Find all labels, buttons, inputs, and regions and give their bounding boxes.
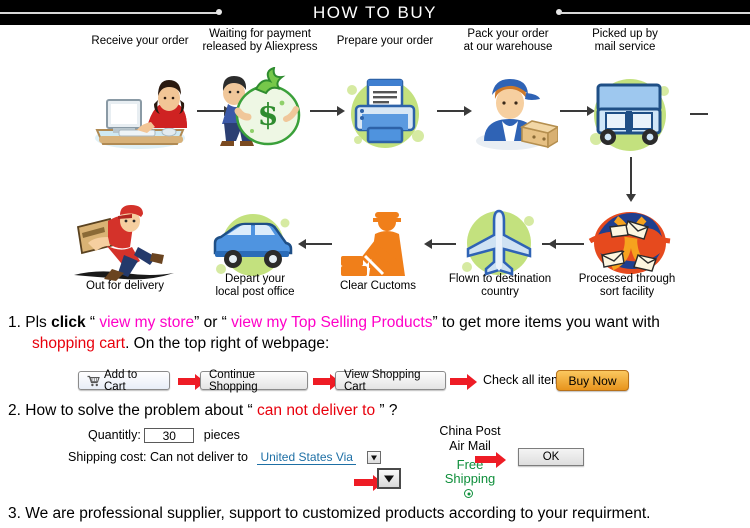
free-shipping-radio[interactable] [464, 487, 473, 501]
airplane-icon [455, 203, 543, 283]
radio-dot-icon [464, 489, 473, 498]
svg-text:$: $ [258, 98, 279, 133]
flow-step-1: Receive your order [75, 35, 205, 48]
flow-step-4: Pack your order at our warehouse [443, 28, 573, 54]
flow-step-9: Depart your local post office [190, 273, 320, 299]
courier-running-icon [68, 203, 178, 283]
shopping-cart-icon [87, 375, 100, 387]
header-dot-left [216, 9, 222, 15]
quantity-input[interactable]: 30 [144, 428, 194, 443]
instruction-1-click-word: click [51, 314, 85, 331]
shopping-cart-highlight: shopping cart [32, 335, 125, 352]
shipping-form: Quantitly: 30 pieces Shipping cost: Can … [0, 424, 750, 490]
header-rule-left [0, 12, 218, 14]
flow-step-3: Prepare your order [320, 35, 450, 48]
flow-step-6-label: Processed through sort facility [562, 273, 692, 299]
instruction-2-post: ” ? [375, 402, 397, 419]
buy-now-button[interactable]: Buy Now [556, 370, 629, 391]
instruction-1-quote-open: “ [86, 314, 100, 331]
flow-step-2: Waiting for payment released by Aliexpre… [195, 28, 325, 54]
view-shopping-cart-button[interactable]: View Shopping Cart [335, 371, 446, 390]
view-my-store-link[interactable]: view my store [99, 314, 194, 331]
instruction-2: 2. How to solve the problem about “ can … [8, 400, 748, 421]
flow-step-5: Picked up by mail service [565, 28, 685, 54]
how-to-buy-flow-diagram: Receive your order Waiting for payment r… [0, 25, 750, 310]
printer-icon [338, 70, 432, 152]
ok-button-label: OK [543, 451, 560, 463]
country-select[interactable]: United States Via [257, 450, 356, 465]
instruction-1-post: ” to get more items you want with [432, 314, 659, 331]
instruction-3: 3. We are professional supplier, support… [8, 503, 748, 524]
delivery-van-icon [205, 207, 301, 283]
flow-step-2-label: Waiting for payment released by Aliexpre… [195, 28, 325, 54]
instruction-1: 1. Pls click “ view my store” or “ view … [8, 312, 748, 333]
instruction-2-pre: How to solve the problem about “ [25, 402, 257, 419]
checkout-button-row: Add to Cart Continue Shopping View Shopp… [0, 370, 750, 394]
country-dropdown-arrow-icon[interactable] [367, 451, 381, 464]
view-top-selling-products-link[interactable]: view my Top Selling Products [231, 314, 432, 331]
mail-sorting-icon [580, 203, 680, 279]
customs-officer-icon [335, 210, 421, 280]
view-shopping-cart-label: View Shopping Cart [344, 369, 437, 393]
quantity-unit: pieces [204, 428, 240, 442]
instruction-1-pre: Pls [25, 314, 51, 331]
add-to-cart-label: Add to Cart [104, 369, 161, 393]
can-not-deliver-to-highlight: can not deliver to [257, 402, 375, 419]
mail-truck-icon [582, 67, 678, 155]
flow-step-7: Flown to destination country [435, 273, 565, 299]
flow-step-4-label: Pack your order at our warehouse [443, 28, 573, 54]
flow-step-5-label: Picked up by mail service [565, 28, 685, 54]
buy-now-label: Buy Now [568, 374, 616, 388]
flow-connector-top-right-tick [690, 113, 708, 115]
ok-button[interactable]: OK [518, 448, 584, 466]
instruction-1-mid: ” or “ [194, 314, 231, 331]
flow-step-7-label: Flown to destination country [435, 273, 565, 299]
continue-shopping-button[interactable]: Continue Shopping [200, 371, 308, 390]
flow-step-9-label: Depart your local post office [190, 273, 320, 299]
man-with-money-bag-icon: $ [212, 67, 308, 153]
add-to-cart-button[interactable]: Add to Cart [78, 371, 170, 390]
flow-step-8: Clear Cuctoms [318, 280, 438, 293]
shipping-row: Shipping cost: Can not deliver to United… [68, 450, 381, 465]
flow-step-10: Out for delivery [60, 280, 190, 293]
flow-step-8-label: Clear Cuctoms [318, 280, 438, 293]
instruction-3-number: 3. [8, 505, 21, 522]
instruction-2-number: 2. [8, 402, 21, 419]
page-title: HOW TO BUY [295, 3, 455, 23]
shipping-method-dropdown[interactable] [377, 468, 401, 489]
header-rule-right [560, 12, 750, 14]
carrier-label: China Post Air Mail [420, 424, 520, 454]
flow-step-6: Processed through sort facility [562, 273, 692, 299]
instruction-1-number: 1. [8, 314, 21, 331]
person-at-computer-icon [85, 70, 195, 150]
page-header: HOW TO BUY [0, 0, 750, 25]
flow-step-1-label: Receive your order [75, 35, 205, 48]
quantity-row: Quantitly: 30 pieces [88, 428, 240, 443]
worker-packing-boxes-icon [462, 67, 558, 153]
flow-step-10-label: Out for delivery [60, 280, 190, 293]
instruction-3-text: We are professional supplier, support to… [25, 505, 650, 522]
flow-step-3-label: Prepare your order [320, 35, 450, 48]
quantity-label: Quantitly: [88, 428, 141, 442]
instruction-1-line2-rest: . On the top right of webpage: [125, 335, 329, 352]
continue-shopping-label: Continue Shopping [209, 369, 299, 393]
instruction-1-line2: shopping cart. On the top right of webpa… [32, 333, 732, 354]
shipping-cost-label: Shipping cost: Can not deliver to [68, 450, 248, 464]
